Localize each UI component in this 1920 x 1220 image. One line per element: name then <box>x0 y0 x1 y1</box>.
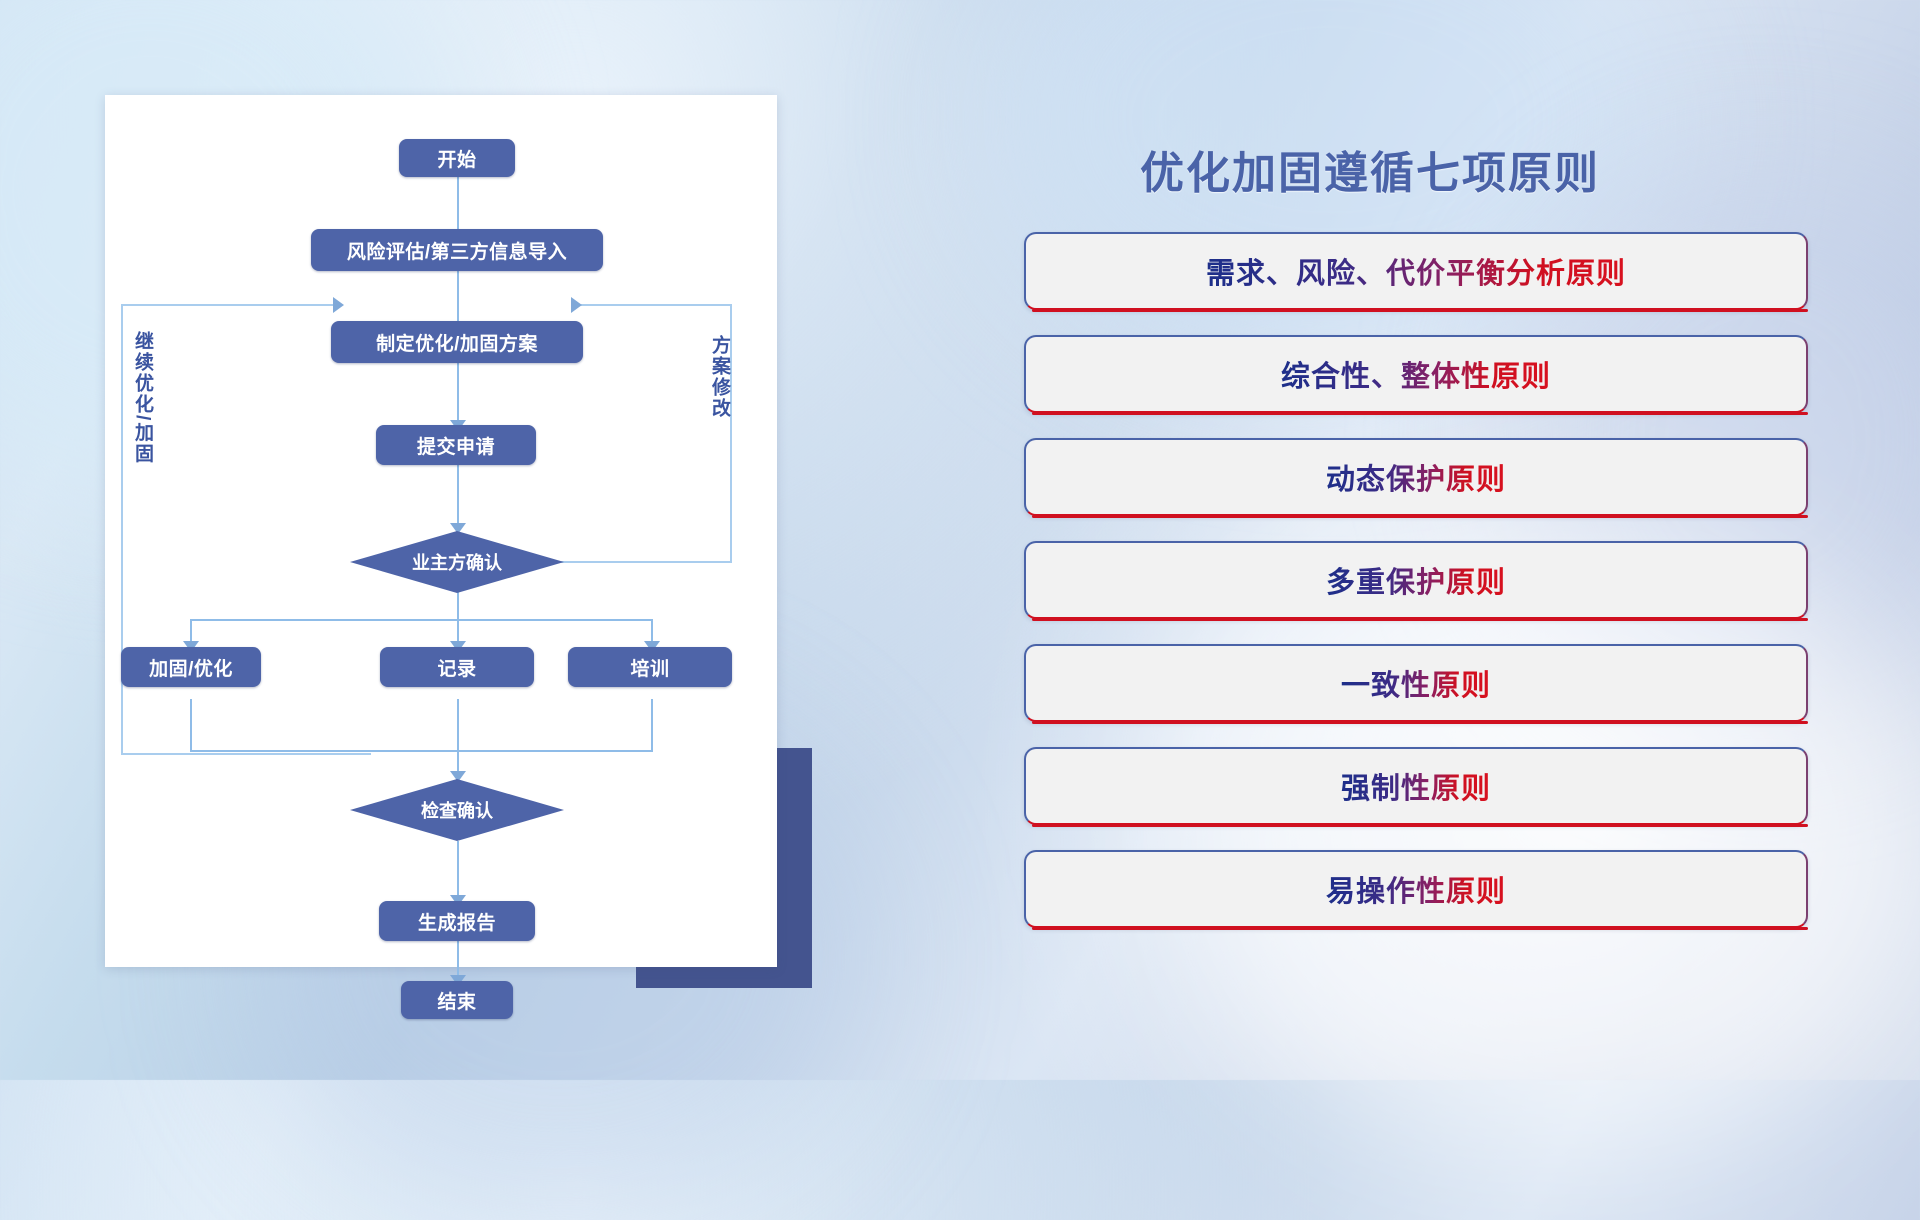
principle-item-5[interactable]: 一致性原则 <box>1024 644 1808 722</box>
principles-list: 需求、风险、代价平衡分析原则 综合性、整体性原则 动态保护原则 多重保护原则 一… <box>1024 232 1808 953</box>
connector-risk-plan <box>457 267 459 327</box>
flow-node-end[interactable]: 结束 <box>401 981 513 1019</box>
connector-start-risk <box>457 173 459 237</box>
connector-owner-down <box>457 591 459 621</box>
flow-node-training[interactable]: 培训 <box>568 647 732 687</box>
principle-label: 需求、风险、代价平衡分析原则 <box>1206 250 1626 292</box>
flow-node-owner-confirm[interactable]: 业主方确认 <box>350 531 564 593</box>
slide-canvas: 开始 风险评估/第三方信息导入 制定优化/加固方案 提交申请 业主方确认 加固/… <box>0 0 1920 1080</box>
connector-check-report <box>457 841 459 901</box>
connector-owner-right <box>548 561 732 563</box>
connector-fanout-bus <box>190 619 653 621</box>
flow-node-submit[interactable]: 提交申请 <box>376 425 536 465</box>
principle-item-3[interactable]: 动态保护原则 <box>1024 438 1808 516</box>
principle-label: 易操作性原则 <box>1326 868 1506 910</box>
connector-plan-submit <box>457 361 459 427</box>
principle-label: 动态保护原则 <box>1326 456 1506 498</box>
principle-item-4[interactable]: 多重保护原则 <box>1024 541 1808 619</box>
flow-node-check-confirm[interactable]: 检查确认 <box>350 779 564 841</box>
connector-train-down <box>651 699 653 752</box>
connector-record-to-check <box>457 699 459 778</box>
principle-label: 一致性原则 <box>1341 662 1491 704</box>
flowchart-card: 开始 风险评估/第三方信息导入 制定优化/加固方案 提交申请 业主方确认 加固/… <box>105 95 777 967</box>
principle-item-1[interactable]: 需求、风险、代价平衡分析原则 <box>1024 232 1808 310</box>
connector-left-to-plan <box>121 304 336 306</box>
connector-right-to-plan <box>581 304 732 306</box>
principle-label: 综合性、整体性原则 <box>1281 353 1551 395</box>
flow-node-record[interactable]: 记录 <box>380 647 534 687</box>
flow-node-start[interactable]: 开始 <box>399 139 515 177</box>
flow-node-report[interactable]: 生成报告 <box>379 901 535 941</box>
edge-label-plan-revision: 方案修改 <box>706 335 733 419</box>
flow-node-reinforce[interactable]: 加固/优化 <box>121 647 261 687</box>
principle-label: 强制性原则 <box>1341 765 1491 807</box>
arrowhead-left-plan <box>333 297 344 313</box>
edge-label-continue-optimize: 继续优化/加固 <box>129 331 156 464</box>
page-title: 优化加固遵循七项原则 <box>1140 137 1780 201</box>
connector-reinforce-down <box>190 699 192 752</box>
principle-item-7[interactable]: 易操作性原则 <box>1024 850 1808 928</box>
flow-node-risk-assessment[interactable]: 风险评估/第三方信息导入 <box>311 229 603 271</box>
principle-item-6[interactable]: 强制性原则 <box>1024 747 1808 825</box>
flowchart: 开始 风险评估/第三方信息导入 制定优化/加固方案 提交申请 业主方确认 加固/… <box>105 95 777 967</box>
connector-check-left <box>121 753 371 755</box>
principle-item-2[interactable]: 综合性、整体性原则 <box>1024 335 1808 413</box>
arrowhead-right-plan <box>571 297 582 313</box>
connector-submit-owner <box>457 465 459 531</box>
connector-left-up <box>121 304 123 755</box>
principle-label: 多重保护原则 <box>1326 559 1506 601</box>
connector-merge-bus <box>190 750 653 752</box>
flow-node-plan[interactable]: 制定优化/加固方案 <box>331 321 583 363</box>
